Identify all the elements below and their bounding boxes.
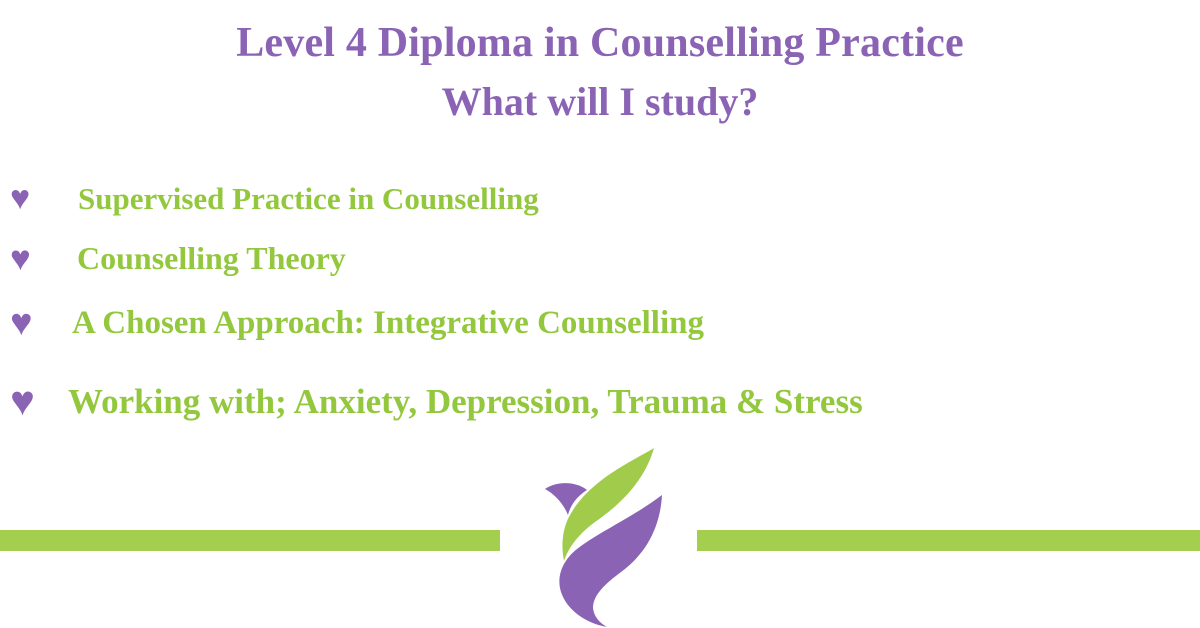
heart-icon: ♥	[10, 241, 57, 276]
heart-icon: ♥	[10, 381, 60, 423]
page-title: Level 4 Diploma in Counselling Practice	[0, 18, 1200, 69]
promo-card: Level 4 Diploma in Counselling Practice …	[0, 0, 1200, 628]
list-item-label: Supervised Practice in Counselling	[56, 181, 539, 217]
list-item: ♥ Working with; Anxiety, Depression, Tra…	[0, 366, 1200, 438]
bird-flame-logo	[523, 443, 699, 628]
list-item: ♥ A Chosen Approach: Integrative Counsel…	[0, 290, 1200, 356]
page-subtitle: What will I study?	[0, 77, 1200, 127]
logo-artwork	[523, 443, 699, 628]
divider-bar-left	[0, 530, 500, 551]
heart-icon: ♥	[10, 304, 58, 342]
study-topics-list: ♥ Supervised Practice in Counselling ♥ C…	[0, 170, 1200, 438]
heading-block: Level 4 Diploma in Counselling Practice …	[0, 18, 1200, 127]
divider-bar-right	[697, 530, 1200, 551]
list-item: ♥ Counselling Theory	[0, 228, 1200, 288]
heart-icon: ♥	[10, 182, 56, 216]
list-item: ♥ Supervised Practice in Counselling	[0, 170, 1200, 228]
list-item-label: Counselling Theory	[57, 240, 346, 277]
list-item-label: A Chosen Approach: Integrative Counselli…	[58, 305, 704, 342]
list-item-label: Working with; Anxiety, Depression, Traum…	[60, 382, 863, 422]
